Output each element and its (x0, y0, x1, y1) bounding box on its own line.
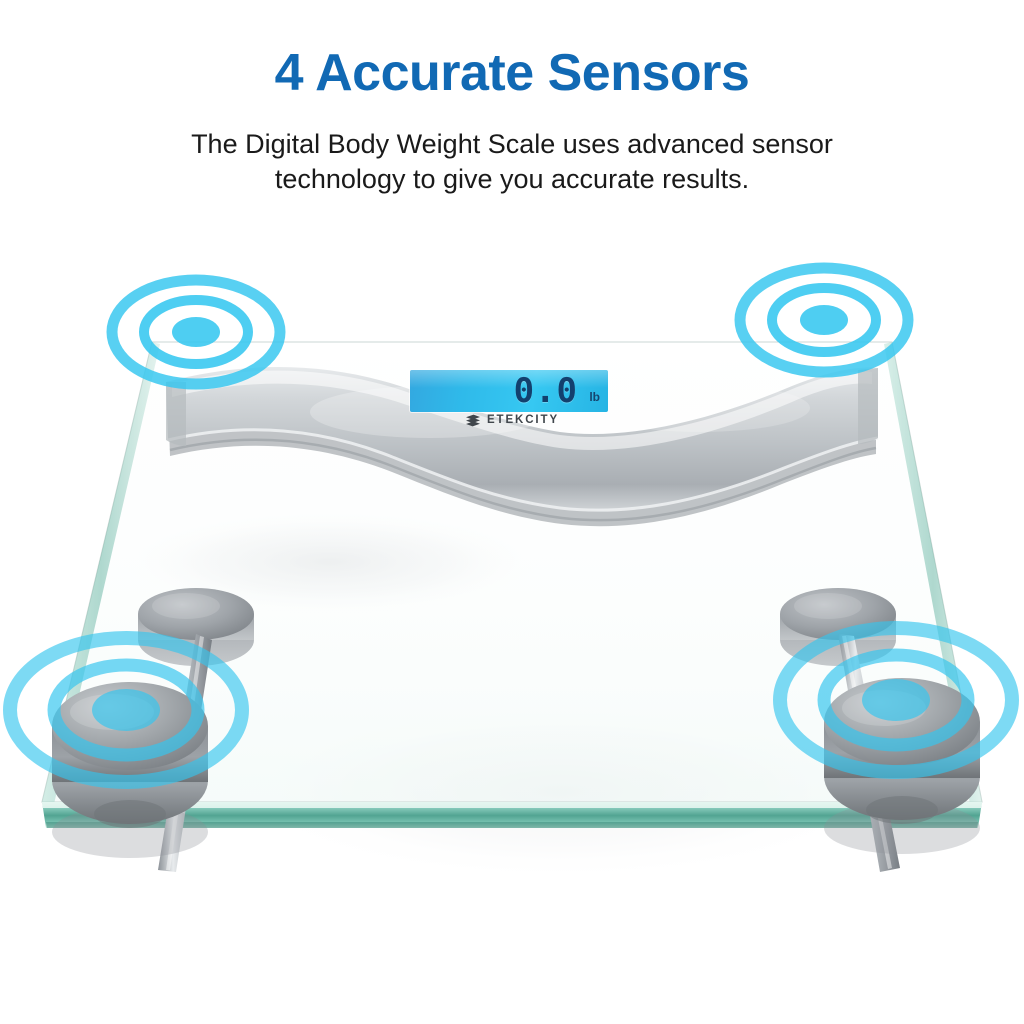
subtitle-line-2: technology to give you accurate results. (0, 162, 1024, 197)
weight-value: 0.0 (514, 374, 578, 408)
weight-unit: lb (589, 391, 600, 403)
page-title: 4 Accurate Sensors (0, 46, 1024, 101)
lcd-display: 0.0 lb (410, 370, 608, 412)
lcd-gloss (410, 370, 608, 388)
product-illustration (0, 232, 1024, 872)
product-feature-image: 4 Accurate Sensors The Digital Body Weig… (0, 0, 1024, 1024)
sensor-rear-right (740, 268, 908, 372)
subtitle-line-1: The Digital Body Weight Scale uses advan… (191, 129, 833, 159)
sensor-rear-left (112, 280, 280, 384)
subtitle: The Digital Body Weight Scale uses advan… (0, 127, 1024, 197)
